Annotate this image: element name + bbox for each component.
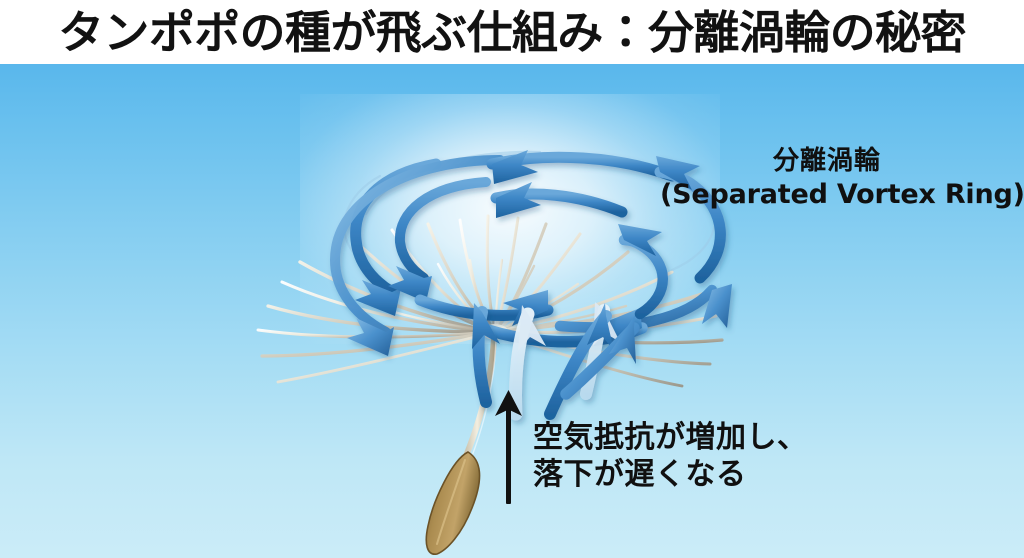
page-title: タンポポの種が飛ぶ仕組み：分離渦輪の秘密	[58, 10, 966, 55]
air-resistance-label: 空気抵抗が増加し、 落下が遅くなる	[533, 420, 808, 493]
air-resistance-label-line1: 空気抵抗が増加し、	[533, 420, 808, 457]
title-band: タンポポの種が飛ぶ仕組み：分離渦輪の秘密	[0, 0, 1024, 64]
infographic-canvas: タンポポの種が飛ぶ仕組み：分離渦輪の秘密	[0, 0, 1024, 558]
illustration-sky-background	[0, 64, 1024, 558]
up-arrow-icon	[0, 64, 1024, 558]
vortex-label-english: (Separated Vortex Ring)	[660, 179, 994, 211]
vortex-ring-label: 分離渦輪 (Separated Vortex Ring)	[660, 146, 994, 211]
vortex-label-japanese: 分離渦輪	[660, 146, 994, 177]
air-resistance-label-line2: 落下が遅くなる	[533, 457, 808, 494]
